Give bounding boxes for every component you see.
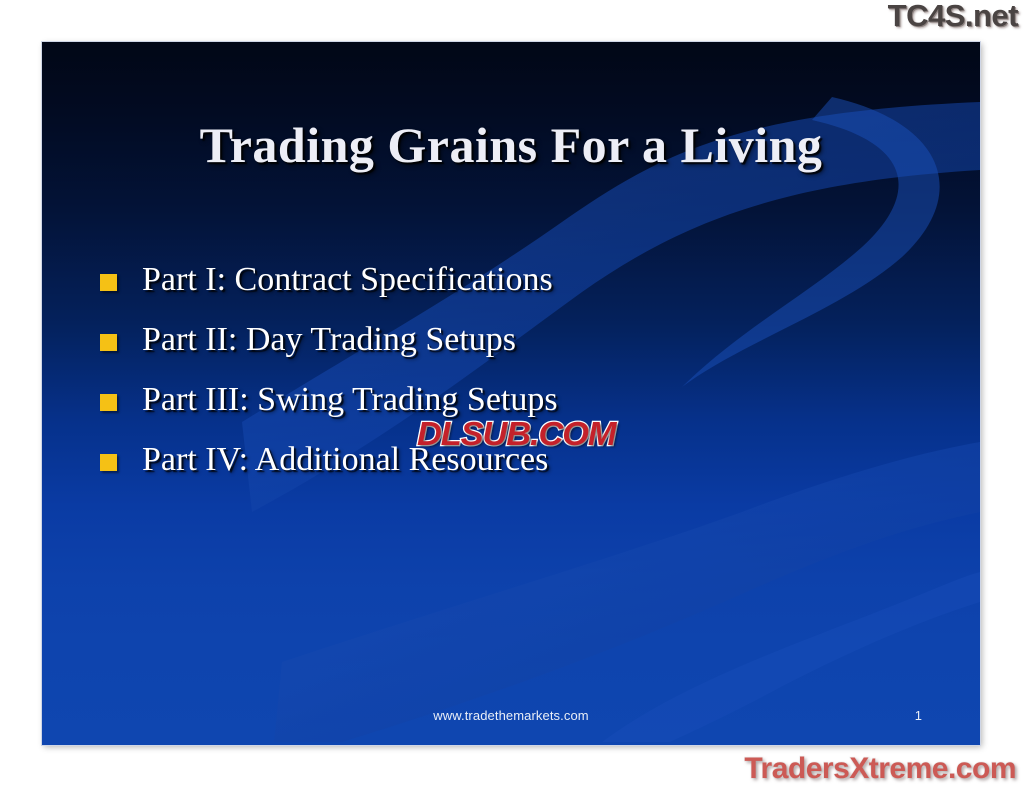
slide-title: Trading Grains For a Living xyxy=(42,116,980,174)
slide-page-number: 1 xyxy=(915,708,922,723)
tc4s-site-logo: TC4S.net xyxy=(888,0,1018,34)
square-bullet-icon xyxy=(100,334,117,351)
bullet-item-label: Part II: Day Trading Setups xyxy=(142,323,516,357)
bullet-item-label: Part III: Swing Trading Setups xyxy=(142,383,558,417)
slide-footer-url: www.tradethemarkets.com xyxy=(42,708,980,723)
presentation-slide: Trading Grains For a Living Part I: Cont… xyxy=(42,42,980,745)
square-bullet-icon xyxy=(100,394,117,411)
square-bullet-icon xyxy=(100,274,117,291)
tradersxtreme-site-logo: TradersXtreme.com xyxy=(744,752,1016,786)
bullet-item-1: Part I: Contract Specifications xyxy=(100,250,950,310)
slide-bullet-list: Part I: Contract Specifications Part II:… xyxy=(100,250,950,490)
bullet-item-2: Part II: Day Trading Setups xyxy=(100,310,950,370)
square-bullet-icon xyxy=(100,454,117,471)
dlsub-watermark: DLSUB.COM xyxy=(417,415,615,453)
bullet-item-label: Part I: Contract Specifications xyxy=(142,263,553,297)
